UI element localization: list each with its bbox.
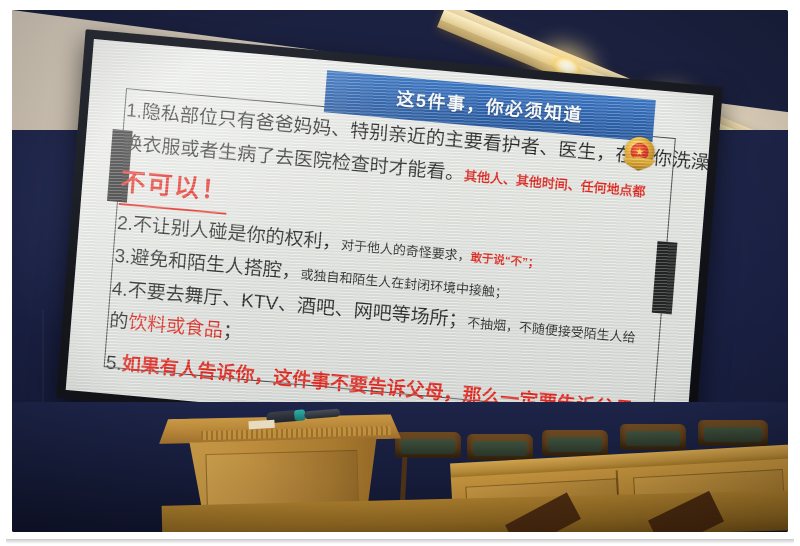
photo-outer-frame: 这5件事，你必须知道 1.隐私部位只有爸爸妈妈、特别亲近的主要看护者、医生，在帮…: [0, 0, 800, 546]
screen-bezel: 这5件事，你必须知道 1.隐私部位只有爸爸妈妈、特别亲近的主要看护者、医生，在帮…: [56, 29, 723, 456]
slide-body: 1.隐私部位只有爸爸妈妈、特别亲近的主要看护者、医生，在帮你洗澡、 换衣服或者生…: [105, 96, 670, 430]
led-screen: 这5件事，你必须知道 1.隐私部位只有爸爸妈妈、特别亲近的主要看护者、医生，在帮…: [56, 29, 723, 456]
chair-cushion: [626, 431, 680, 446]
photograph: 这5件事，你必须知道 1.隐私部位只有爸爸妈妈、特别亲近的主要看护者、医生，在帮…: [12, 10, 788, 532]
item-4-cont-prefix: 的: [108, 311, 129, 334]
item-3-number: 3.: [114, 246, 131, 268]
item-4-cont-red: 饮料或食品: [127, 313, 223, 343]
item-4-sub: 不抽烟，不随便接受陌生人给: [467, 315, 637, 345]
podium-paper: [248, 420, 274, 430]
chair-cushion: [704, 427, 761, 442]
chair-3: [542, 430, 608, 456]
police-emblem-icon: [621, 135, 658, 174]
slide-title: 这5件事，你必须知道: [396, 85, 584, 128]
chair-5: [698, 420, 768, 446]
chair-cushion: [548, 437, 602, 452]
item-1-emphasis: 不可以！: [119, 162, 230, 215]
item-2-number: 2.: [116, 213, 133, 235]
chair-cushion: [401, 439, 455, 454]
chair-1: [395, 432, 461, 458]
item-4-number: 4.: [111, 278, 128, 300]
chair-4: [620, 424, 686, 450]
mic-stem: [304, 409, 341, 420]
screen-surface: 这5件事，你必须知道 1.隐私部位只有爸爸妈妈、特别亲近的主要看护者、医生，在帮…: [66, 39, 714, 446]
item-1-number: 1.: [125, 100, 142, 122]
item-5-number: 5.: [105, 353, 122, 375]
chair-2: [467, 434, 533, 460]
item-2-sub: 对于他人的奇怪要求，: [340, 237, 471, 264]
presentation-slide: 这5件事，你必须知道 1.隐私部位只有爸爸妈妈、特别亲近的主要看护者、医生，在帮…: [66, 39, 714, 446]
item-4-cont-suffix: ；: [222, 321, 243, 344]
chair-cushion: [473, 441, 527, 456]
item-2-red-tail: 敢于说“不”；: [470, 252, 540, 270]
